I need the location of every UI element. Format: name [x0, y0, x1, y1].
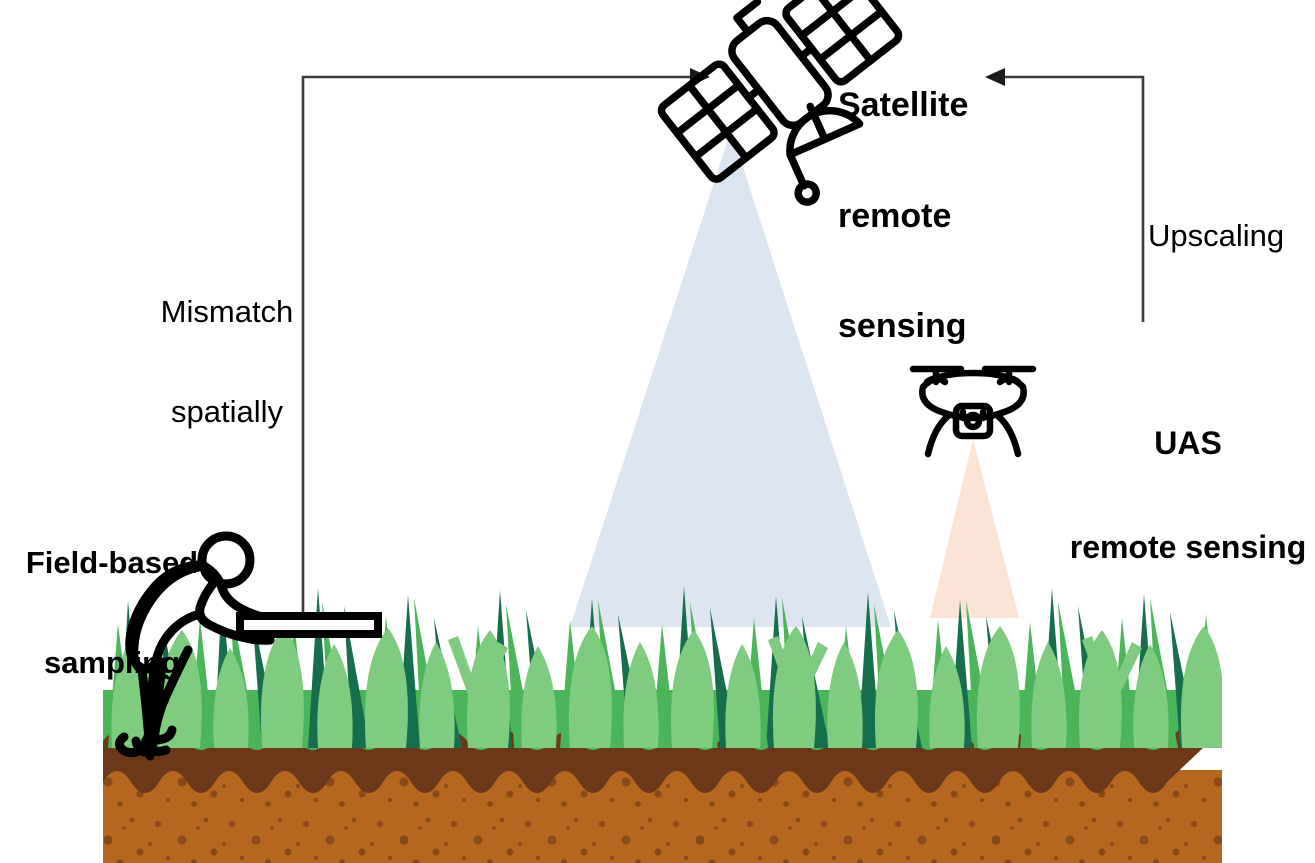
- diagram-canvas: Satellite remote sensing UAS remote sens…: [0, 0, 1315, 863]
- uas-remote-sensing-label: UAS remote sensing: [1062, 357, 1314, 633]
- mismatch-label-line-2: spatially: [148, 395, 306, 428]
- satellite-label-line-2: remote: [838, 198, 968, 235]
- satellite-label-line-1: Satellite: [838, 87, 968, 124]
- upscaling-label: Upscaling: [1148, 152, 1284, 319]
- satellite-remote-sensing-label: Satellite remote sensing: [838, 14, 968, 418]
- quadrat-frame-icon: [240, 616, 378, 634]
- field-label-line-2: sampling: [6, 646, 218, 679]
- satellite-label-line-3: sensing: [838, 308, 968, 345]
- upscaling-label-line-1: Upscaling: [1148, 219, 1284, 252]
- mismatch-label-line-1: Mismatch: [148, 295, 306, 328]
- uas-label-line-1: UAS: [1062, 426, 1314, 461]
- field-label-line-1: Field-based: [6, 546, 218, 579]
- field-based-sampling-label: Field-based sampling: [6, 479, 218, 747]
- mismatch-spatially-label: Mismatch spatially: [148, 228, 306, 496]
- uas-footprint-cone: [930, 439, 1019, 618]
- uas-label-line-2: remote sensing: [1062, 530, 1314, 565]
- upscaling-connector[interactable]: [985, 68, 1143, 322]
